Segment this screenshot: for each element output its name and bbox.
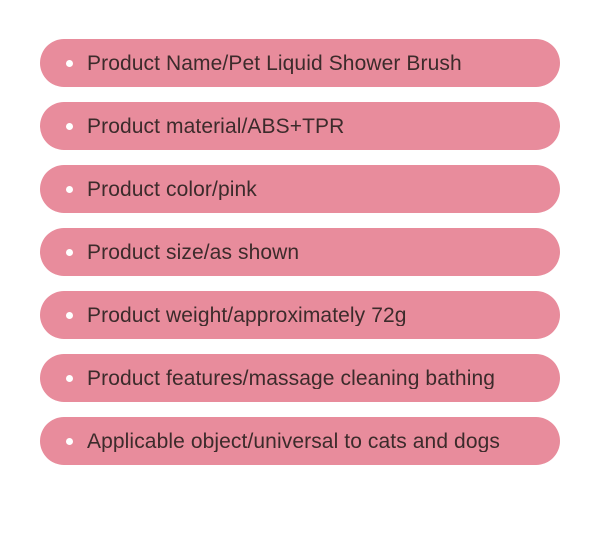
spec-item-label: Applicable object/universal to cats and … bbox=[87, 431, 560, 452]
spec-item-label: Product color/pink bbox=[87, 179, 560, 200]
bullet-dot-icon bbox=[66, 60, 73, 67]
bullet-dot-icon bbox=[66, 375, 73, 382]
list-item: Product Name/Pet Liquid Shower Brush bbox=[40, 39, 560, 87]
bullet-dot-icon bbox=[66, 312, 73, 319]
bullet-dot-icon bbox=[66, 249, 73, 256]
bullet-dot-icon bbox=[66, 438, 73, 445]
spec-item-label: Product weight/approximately 72g bbox=[87, 305, 560, 326]
list-item: Product material/ABS+TPR bbox=[40, 102, 560, 150]
list-item: Product weight/approximately 72g bbox=[40, 291, 560, 339]
list-item: Product color/pink bbox=[40, 165, 560, 213]
spec-item-label: Product material/ABS+TPR bbox=[87, 116, 560, 137]
product-spec-sheet: Product Name/Pet Liquid Shower Brush Pro… bbox=[0, 0, 600, 543]
spec-item-label: Product features/massage cleaning bathin… bbox=[87, 368, 560, 389]
bullet-dot-icon bbox=[66, 123, 73, 130]
spec-item-label: Product size/as shown bbox=[87, 242, 560, 263]
product-specification-list: Product Name/Pet Liquid Shower Brush Pro… bbox=[40, 39, 560, 465]
list-item: Product features/massage cleaning bathin… bbox=[40, 354, 560, 402]
list-item: Product size/as shown bbox=[40, 228, 560, 276]
list-item: Applicable object/universal to cats and … bbox=[40, 417, 560, 465]
spec-item-label: Product Name/Pet Liquid Shower Brush bbox=[87, 53, 560, 74]
bullet-dot-icon bbox=[66, 186, 73, 193]
